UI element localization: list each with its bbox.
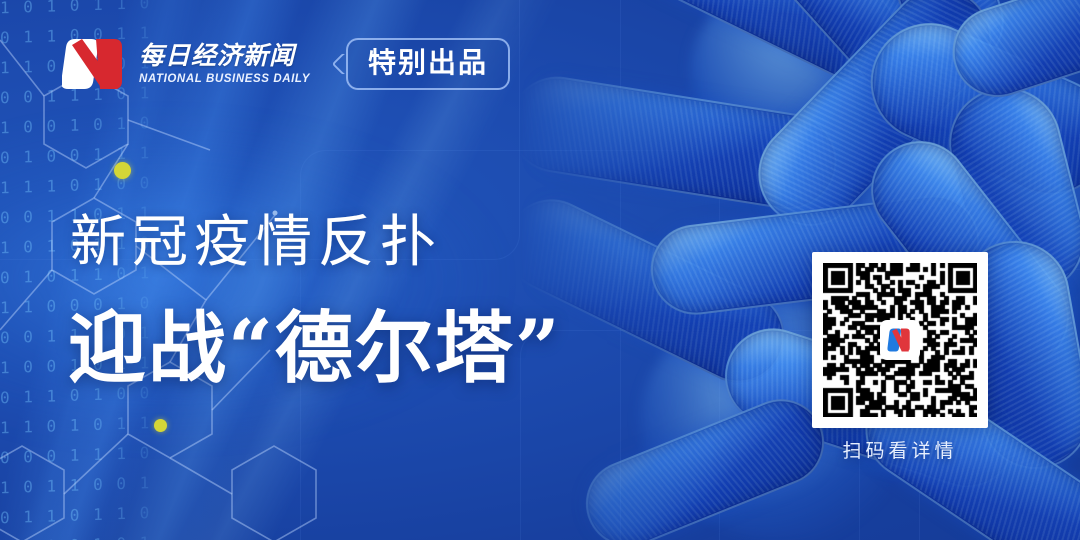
nbd-n-logo-icon (62, 33, 128, 95)
nbd-logo[interactable]: 每日经济新闻 NATIONAL BUSINESS DAILY (62, 33, 310, 95)
qr-center-logo (880, 320, 920, 360)
nbd-n-logo-small-icon (885, 325, 915, 355)
virus-microscopy-imagery (520, 0, 1080, 540)
poster-canvas: 1 0 1 0 1 1 0 0 1 1 0 0 1 1 1 1 0 1 0 0 … (0, 0, 1080, 540)
qr-code[interactable] (812, 252, 988, 428)
headline-secondary: 迎战“德尔塔” (68, 310, 562, 388)
brand-name-en: NATIONAL BUSINESS DAILY (139, 73, 310, 85)
brand-header: 每日经济新闻 NATIONAL BUSINESS DAILY 特别出品 (62, 33, 510, 95)
accent-dot-lower (154, 419, 167, 432)
qr-caption: 扫码看详情 (812, 436, 988, 463)
accent-dot-upper (114, 162, 131, 179)
badge-label: 特别出品 (346, 38, 510, 90)
brand-name-cn: 每日经济新闻 (139, 43, 310, 70)
headline-primary: 新冠疫情反扑 (70, 215, 442, 271)
special-edition-badge[interactable]: 特别出品 (346, 38, 510, 90)
